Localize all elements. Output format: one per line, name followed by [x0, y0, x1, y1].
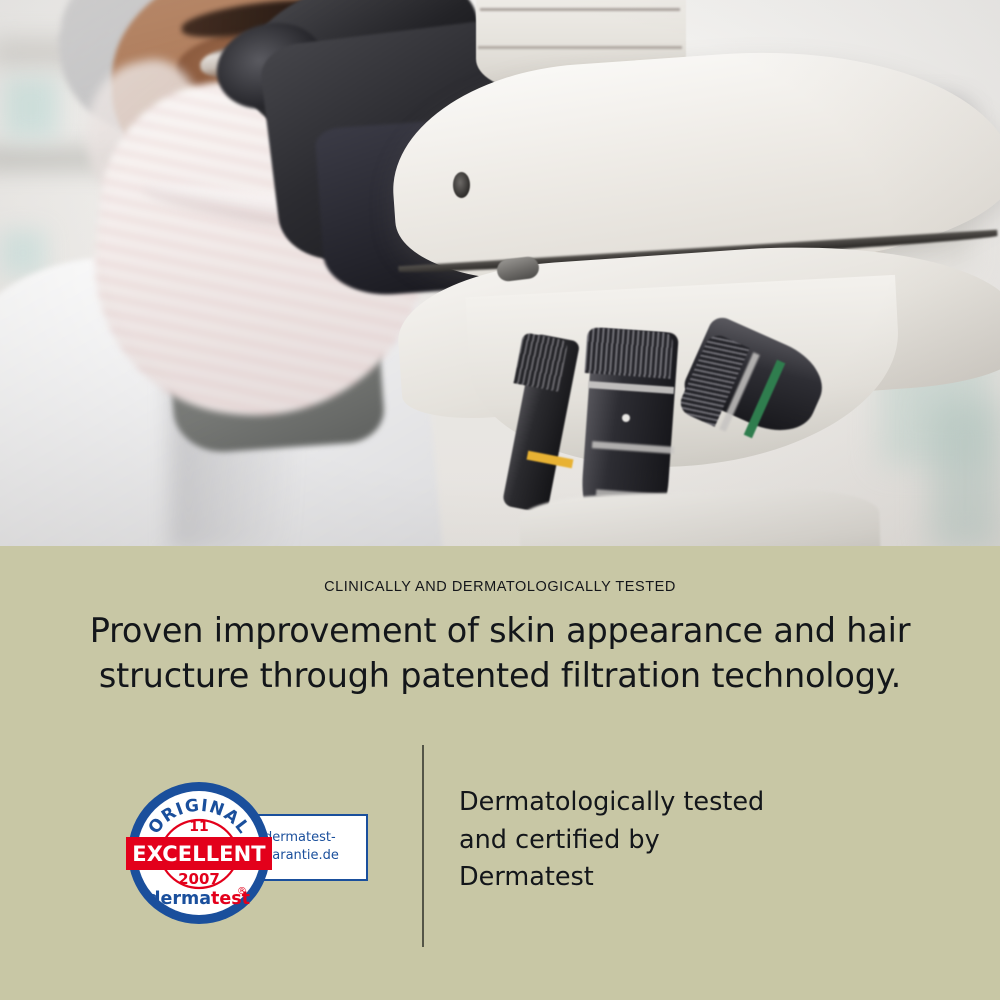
seal-number: 11	[128, 819, 270, 835]
objective-center-marker-dot	[622, 414, 630, 422]
dermatest-excellent-seal: ORIGINAL 11 EXCELLENT 2007 dermatest ®	[128, 782, 270, 924]
seal-year: 2007	[128, 870, 270, 888]
page-title: Proven improvement of skin appearance an…	[50, 609, 950, 698]
dermatest-seal-group: dermatest- garantie.de ORIGINAL	[128, 782, 368, 924]
microscope-column-ring-upper	[480, 8, 680, 11]
dermatest-garantie-url: dermatest- garantie.de	[264, 829, 370, 864]
background-green-item-a	[4, 78, 58, 138]
seal-registered-mark: ®	[237, 886, 247, 897]
certification-statement: Dermatologically tested and certified by…	[459, 784, 899, 897]
product-claim-card: CLINICALLY AND DERMATOLOGICALLY TESTED P…	[0, 0, 1000, 1000]
objective-left-knurled-collar	[513, 332, 568, 392]
objective-center-knurled-collar	[585, 327, 674, 379]
seal-brand-wordmark: dermatest	[128, 889, 270, 909]
microscope-column-ring-lower	[478, 46, 682, 49]
background-green-item-b	[0, 230, 46, 276]
eyebrow-label: CLINICALLY AND DERMATOLOGICALLY TESTED	[0, 579, 1000, 595]
microscope-arm-port-hole	[453, 172, 470, 198]
background-teal-item-right-2	[930, 400, 1000, 546]
claim-panel: CLINICALLY AND DERMATOLOGICALLY TESTED P…	[0, 546, 1000, 1000]
laboratory-microscope-photo	[0, 0, 1000, 546]
seal-brand-derma: derma	[148, 889, 211, 909]
vertical-divider	[422, 745, 424, 947]
seal-excellent-label: EXCELLENT	[132, 842, 265, 866]
seal-excellent-banner: EXCELLENT	[126, 837, 272, 870]
